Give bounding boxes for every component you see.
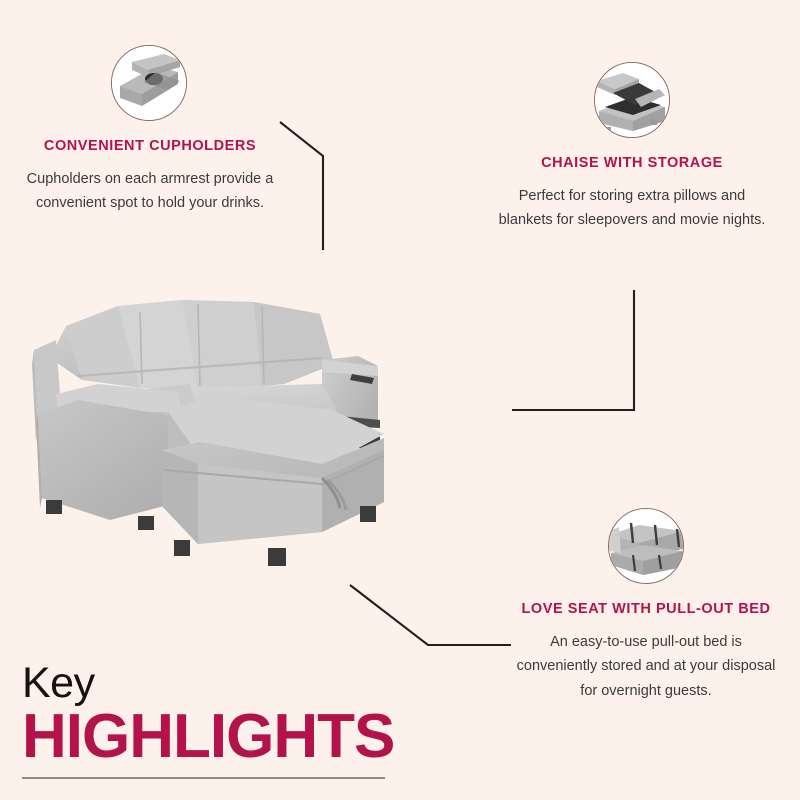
feature-title-chaise: CHAISE WITH STORAGE [498,154,766,173]
connector-pullout [350,585,511,645]
feature-pullout-bed: LOVE SEAT WITH PULL-OUT BED An easy-to-u… [512,508,780,703]
connector-cupholders [280,122,323,250]
feature-body-cupholders: Cupholders on each armrest provide a con… [18,167,282,216]
pull-out-bed-icon [608,508,684,584]
feature-cupholders: CONVENIENT CUPHOLDERS Cupholders on each… [18,45,282,216]
feature-title-cupholders: CONVENIENT CUPHOLDERS [18,137,282,156]
connector-chaise [512,290,634,410]
feature-title-pullout: LOVE SEAT WITH PULL-OUT BED [512,600,780,619]
page-title: Key HIGHLIGHTS [22,662,422,779]
feature-chaise-storage: CHAISE WITH STORAGE Perfect for storing … [498,62,766,233]
title-divider [22,777,385,779]
storage-chaise-open-icon [594,62,670,138]
feature-body-pullout: An easy-to-use pull-out bed is convenien… [512,630,780,703]
page-title-key: Key [22,662,422,704]
cupholder-armrest-icon [111,45,187,121]
infographic-canvas: CONVENIENT CUPHOLDERS Cupholders on each… [0,0,800,800]
page-title-highlights: HIGHLIGHTS [22,706,422,768]
product-image-sofa [22,292,442,582]
feature-body-chaise: Perfect for storing extra pillows and bl… [498,184,766,233]
